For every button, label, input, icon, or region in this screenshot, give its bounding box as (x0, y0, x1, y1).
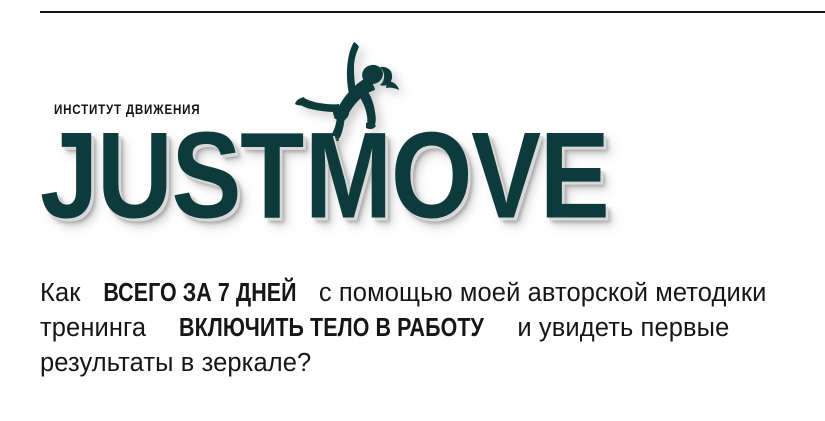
headline-segment-3: тренинга (40, 314, 153, 342)
top-divider-rule (40, 11, 825, 13)
headline-paragraph: Как ВСЕГО ЗА 7 ДНЕЙ с помощью моей автор… (40, 276, 800, 381)
headline-segment-1: Как (40, 279, 88, 307)
wordmark-just: JUST (40, 106, 303, 244)
headline-emphasis-1: ВСЕГО ЗА 7 ДНЕЙ (103, 276, 296, 311)
promo-page: ИНСТИТУТ ДВИЖЕНИЯ (0, 0, 825, 421)
headline-segment-2: с помощью моей авторской методики (312, 279, 767, 307)
wordmark-move: MOVE (305, 106, 609, 244)
headline-emphasis-2: ВКЛЮЧИТЬ ТЕЛО В РАБОТУ (179, 311, 484, 346)
brand-logo-block: ИНСТИТУТ ДВИЖЕНИЯ (40, 40, 560, 250)
brand-wordmark: JUSTMOVE (40, 123, 608, 229)
